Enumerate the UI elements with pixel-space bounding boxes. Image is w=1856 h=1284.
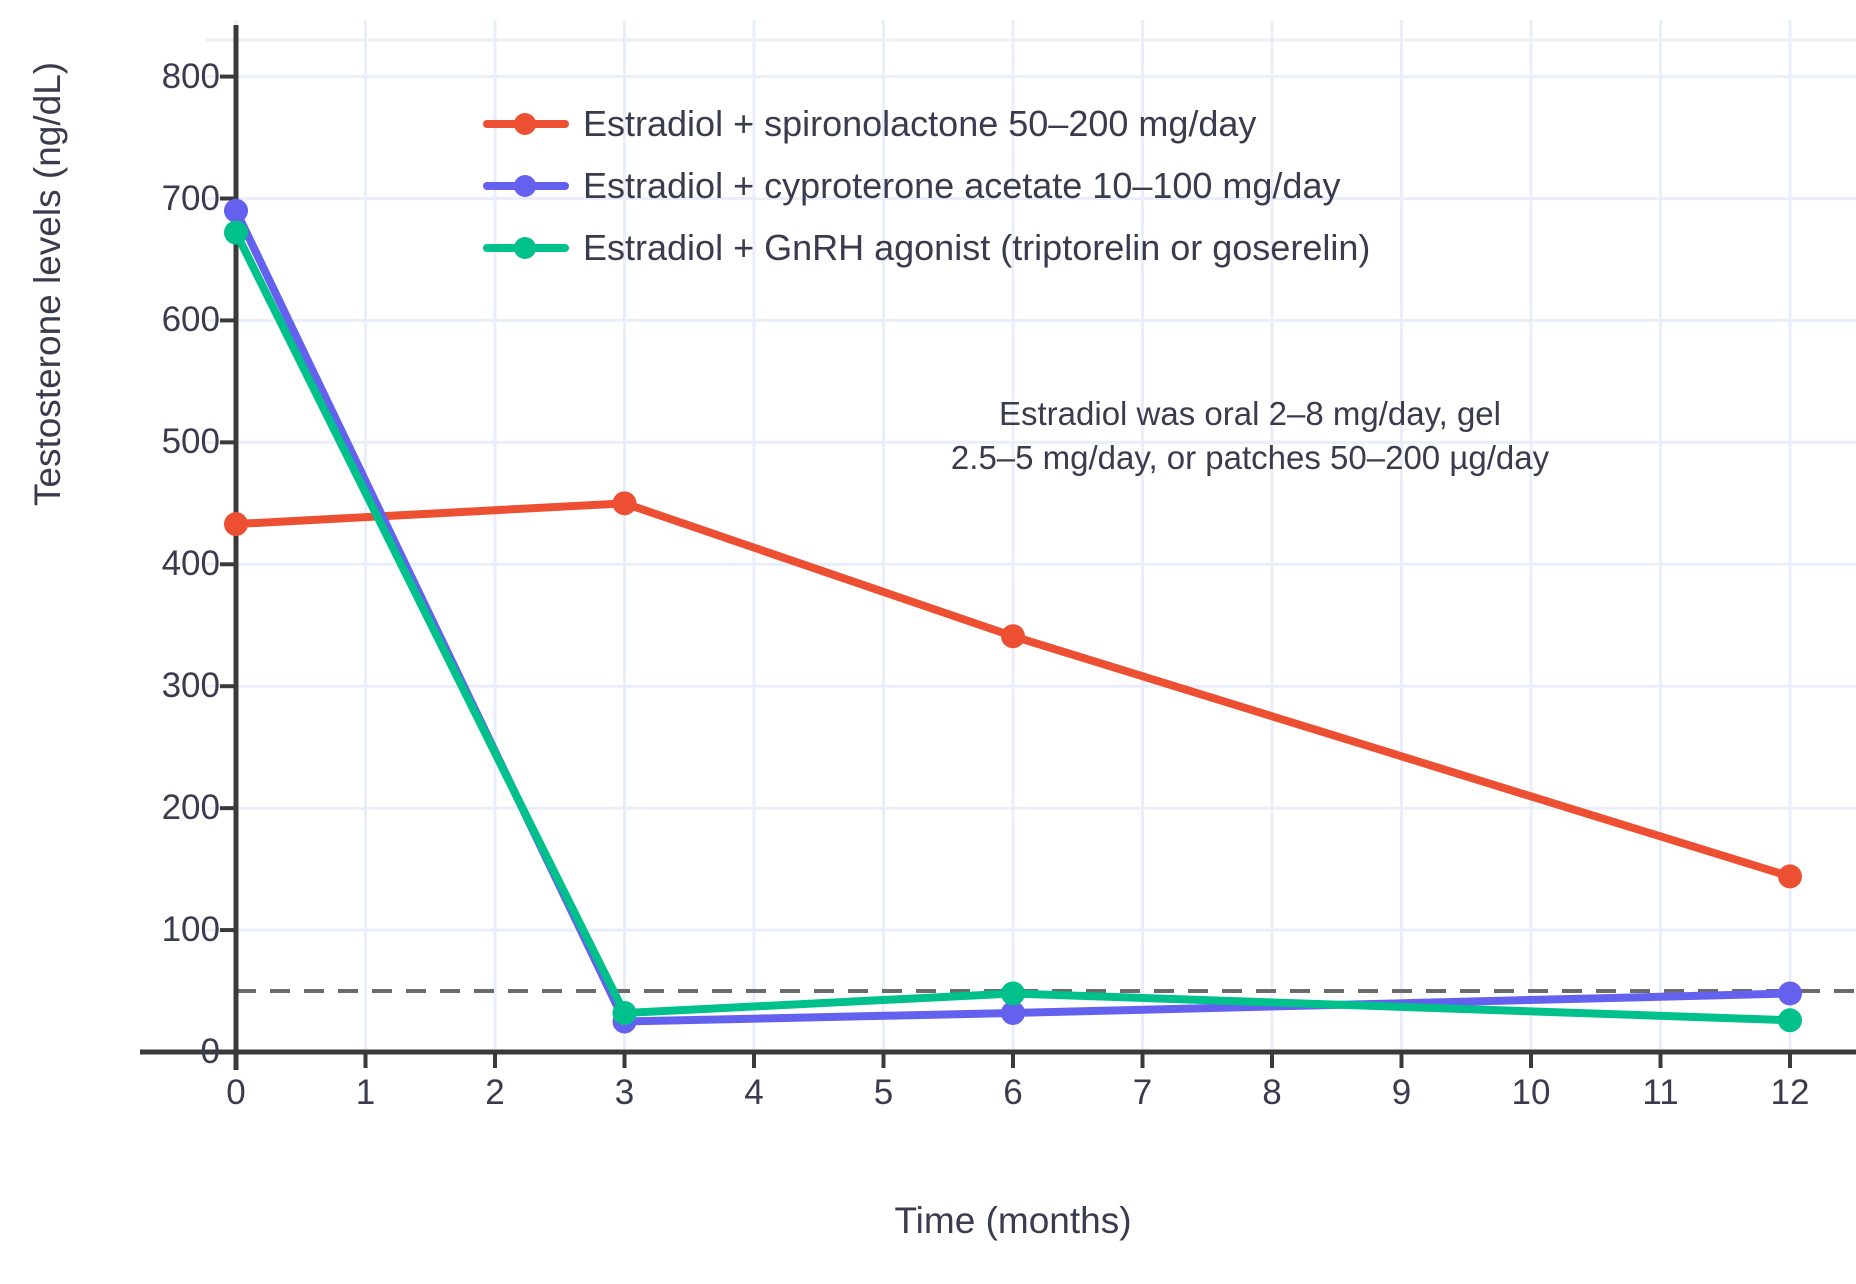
legend-label: Estradiol + GnRH agonist (triptorelin or… [583,228,1370,268]
legend-item-1[interactable]: Estradiol + cyproterone acetate 10–100 m… [483,166,1370,206]
series-marker [1778,1008,1802,1032]
x-tick-label: 5 [844,1073,924,1113]
series-marker [1001,981,1025,1005]
legend-label: Estradiol + cyproterone acetate 10–100 m… [583,166,1340,206]
x-tick-label: 2 [455,1073,535,1113]
legend-swatch-icon [483,109,569,139]
x-axis-title: Time (months) [236,1200,1790,1242]
series-marker [224,512,248,536]
legend-item-2[interactable]: Estradiol + GnRH agonist (triptorelin or… [483,228,1370,268]
y-tick-label: 300 [100,666,220,706]
series-marker [613,491,637,515]
x-tick-label: 1 [326,1073,406,1113]
x-tick-label: 9 [1362,1073,1442,1113]
y-tick-label: 400 [100,544,220,584]
annotation-line-2: 2.5–5 mg/day, or patches 50–200 µg/day [900,436,1600,480]
chart-root: 0100200300400500600700800 01234567891011… [0,0,1856,1284]
x-tick-label: 7 [1103,1073,1183,1113]
x-tick-label: 0 [196,1073,276,1113]
x-tick-label: 4 [714,1073,794,1113]
y-tick-label: 200 [100,788,220,828]
series-marker [224,199,248,223]
y-axis-title: Testosterone levels (ng/dL) [18,0,78,790]
x-tick-label: 10 [1491,1073,1571,1113]
series-marker [1778,981,1802,1005]
legend-label: Estradiol + spironolactone 50–200 mg/day [583,104,1256,144]
y-tick-label: 500 [100,422,220,462]
legend-swatch-icon [483,233,569,263]
y-tick-label: 600 [100,300,220,340]
y-tick-label: 800 [100,57,220,97]
legend-swatch-icon [483,171,569,201]
y-tick-label: 100 [100,910,220,950]
series-marker [224,221,248,245]
y-tick-label: 700 [100,179,220,219]
x-tick-label: 12 [1750,1073,1830,1113]
x-tick-label: 11 [1621,1073,1701,1113]
series-marker [613,1001,637,1025]
chart-legend: Estradiol + spironolactone 50–200 mg/day… [483,104,1370,268]
x-tick-label: 6 [973,1073,1053,1113]
annotation-line-1: Estradiol was oral 2–8 mg/day, gel [900,392,1600,436]
legend-item-0[interactable]: Estradiol + spironolactone 50–200 mg/day [483,104,1370,144]
series-marker [1001,624,1025,648]
x-tick-label: 3 [585,1073,665,1113]
series-marker [1778,864,1802,888]
y-tick-label: 0 [100,1032,220,1072]
x-tick-label: 8 [1232,1073,1312,1113]
chart-annotation: Estradiol was oral 2–8 mg/day, gel 2.5–5… [900,392,1600,479]
